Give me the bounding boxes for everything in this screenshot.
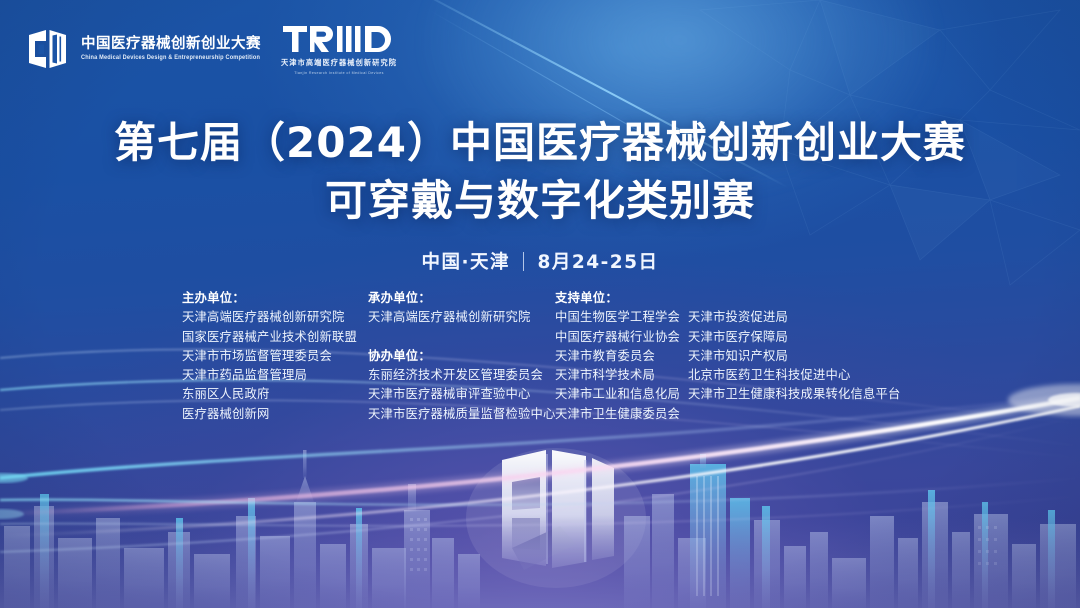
competition-name-cn: 中国医疗器械创新创业大赛 [81,37,261,52]
organizers-block: 主办单位： 天津高端医疗器械创新研究院 国家医疗器械产业技术创新联盟 天津市市场… [0,289,1080,424]
organizer-entry: 天津市医疗器械质量监督检验中心 [368,405,555,424]
organizer-entry: 天津市卫生健康委员会 [555,405,688,424]
organizers-column-4: 天津市投资促进局 天津市医疗保障局 天津市知识产权局 北京市医药卫生科技促进中心… [688,289,898,424]
column-heading: 承办单位： [368,289,555,308]
city-skyline-silhouette [0,398,1080,608]
organizer-entry: 北京市医药卫生科技促进中心 [688,366,898,385]
organizer-entry: 国家医疗器械产业技术创新联盟 [182,328,368,347]
organizer-entry: 东丽区人民政府 [182,385,368,404]
institute-name-en: Tianjin Research Institute of Medical De… [294,71,384,75]
organizers-column-2: 承办单位： 天津高端医疗器械创新研究院 协办单位： 东丽经济技术开发区管理委员会… [368,289,555,424]
column-spacer [368,328,555,347]
institute-logo: 天津市高端医疗器械创新研究院 Tianjin Research Institut… [281,24,397,75]
organizer-entry: 东丽经济技术开发区管理委员会 [368,366,555,385]
competition-name-en: China Medical Devices Design & Entrepren… [81,56,261,62]
competition-logo: 中国医疗器械创新创业大赛 China Medical Devices Desig… [26,26,261,72]
subtitle: 中国·天津 8月24-25日 [0,248,1080,274]
organizer-entry: 天津市市场监督管理委员会 [182,347,368,366]
organizer-entry: 天津高端医疗器械创新研究院 [368,308,555,327]
trimd-wordmark-icon [283,24,395,54]
organizer-entry: 天津高端医疗器械创新研究院 [182,308,368,327]
organizer-entry: 天津市医疗器械审评查验中心 [368,385,555,404]
organizer-entry: 天津市投资促进局 [688,308,898,327]
main-title-line2: 可穿戴与数字化类别赛 [0,174,1080,228]
column-heading: 协办单位： [368,347,555,366]
organizer-entry: 医疗器械创新网 [182,405,368,424]
organizers-column-3: 支持单位： 中国生物医学工程学会 中国医疗器械行业协会 天津市教育委员会 天津市… [555,289,688,424]
organizer-entry: 天津市科学技术局 [555,366,688,385]
organizer-entry: 天津市医疗保障局 [688,328,898,347]
title-block: 第七届（2024）中国医疗器械创新创业大赛 可穿戴与数字化类别赛 中国·天津 8… [0,116,1080,274]
organizer-entry: 天津市工业和信息化局 [555,385,688,404]
column-heading: 支持单位： [555,289,688,308]
competition-logo-text: 中国医疗器械创新创业大赛 China Medical Devices Desig… [81,37,261,61]
main-title-line1: 第七届（2024）中国医疗器械创新创业大赛 [0,116,1080,170]
open-door-logo-icon [26,26,72,72]
logo-bar: 中国医疗器械创新创业大赛 China Medical Devices Desig… [26,24,397,75]
column-spacer [688,289,898,308]
subtitle-divider [523,252,525,271]
institute-name-cn: 天津市高端医疗器械创新研究院 [281,58,397,68]
organizer-entry: 天津市知识产权局 [688,347,898,366]
central-open-door-emblem [466,448,646,588]
column-heading: 主办单位： [182,289,368,308]
organizer-entry: 天津市卫生健康科技成果转化信息平台 [688,385,898,404]
organizer-entry: 中国医疗器械行业协会 [555,328,688,347]
organizers-column-1: 主办单位： 天津高端医疗器械创新研究院 国家医疗器械产业技术创新联盟 天津市市场… [182,289,368,424]
poster-canvas: 中国医疗器械创新创业大赛 China Medical Devices Desig… [0,0,1080,608]
subtitle-location: 中国·天津 [421,248,510,274]
organizer-entry: 天津市教育委员会 [555,347,688,366]
subtitle-dates: 8月24-25日 [537,248,658,274]
organizer-entry: 中国生物医学工程学会 [555,308,688,327]
organizer-entry: 天津市药品监督管理局 [182,366,368,385]
